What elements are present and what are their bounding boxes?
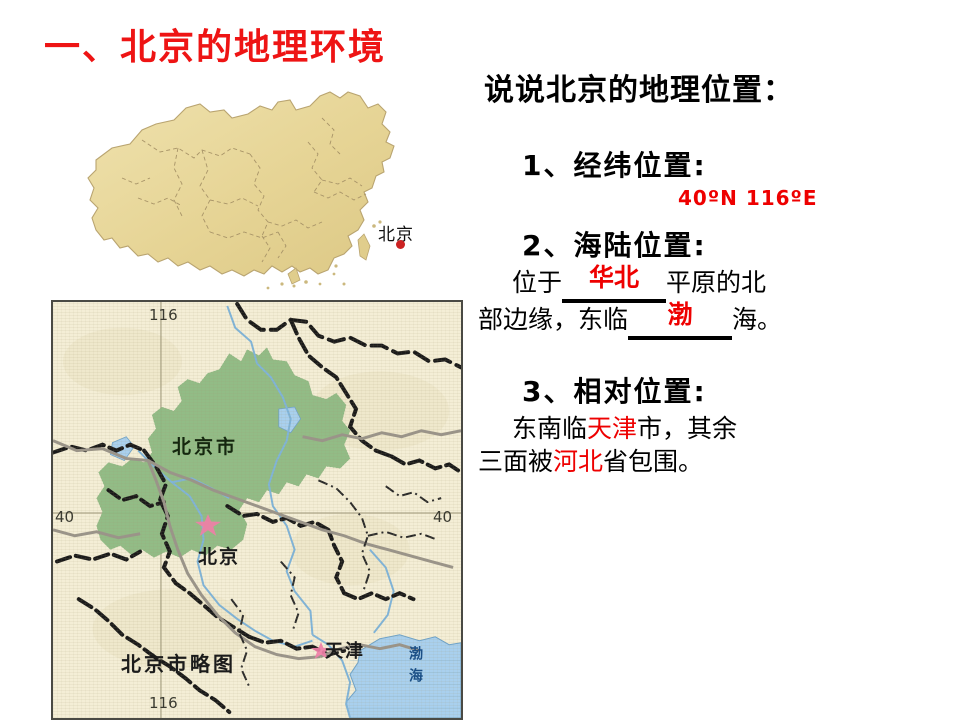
item-3-body-line-1: 东南临天津市，其余 [478,412,956,445]
item-3-line1-a: 东南临 [512,414,587,443]
item-2-body-line-1: 位于华北平原的北 [478,266,956,303]
item-3-line1-b: 市，其余 [637,414,737,443]
map-caption: 北京市略图 [121,648,236,677]
item-3-highlight-tianjin: 天津 [587,414,637,443]
item-2-text-before: 位于 [512,268,562,297]
item-2-body: 位于华北平原的北 部边缘，东临渤海。 [478,266,956,340]
map-longitude-label-bottom: 116 [149,694,178,712]
item-3-line2-a: 三面被 [478,447,553,476]
item-2-blank-2[interactable]: 渤 [628,303,732,340]
item-3-label: 3、相对位置: [522,370,956,410]
china-map-capital-marker [396,240,405,249]
item-2-blank-1-answer: 华北 [589,263,639,292]
beijing-region-map: 116 116 40 40 北京市 北京 天津 渤海 北京市略图 [51,300,463,720]
item-2-blank-2-answer: 渤 [668,300,693,329]
map-latitude-label-left: 40 [55,508,74,526]
item-3-body-line-2: 三面被河北省包围。 [478,445,956,478]
item-3-line2-b: 省包围。 [603,447,703,476]
slide-canvas: 一、北京的地理环境 [0,0,960,720]
item-2-line2-tail: 海。 [732,305,782,334]
item-1-label: 1、经纬位置: [522,144,956,184]
china-map-svg [82,88,482,300]
map-label-bohai-sea: 渤海 [405,646,425,690]
beijing-region-map-svg [53,302,461,718]
map-longitude-label-top: 116 [149,306,178,324]
map-label-beijing-municipality: 北京市 [172,432,238,459]
question-heading: 说说北京的地理位置： [484,72,956,110]
item-2-blank-1[interactable]: 华北 [562,266,666,303]
map-label-tianjin: 天津 [325,637,365,663]
item-2-body-line-2: 部边缘，东临渤海。 [478,303,956,340]
item-3-body: 东南临天津市，其余 三面被河北省包围。 [478,412,956,478]
item-3-highlight-hebei: 河北 [553,447,603,476]
map-latitude-label-right: 40 [433,508,452,526]
item-2-line1-tail: 平原的北 [666,268,766,297]
item-2-label: 2、海陆位置: [522,224,956,264]
right-text-panel: 说说北京的地理位置： 1、经纬位置: 40ºN 116ºE 2、海陆位置: 位于… [478,72,956,478]
item-2-line2-head: 部边缘，东临 [478,305,628,334]
china-overview-map: 北京 [82,88,482,300]
page-title: 一、北京的地理环境 [44,26,464,69]
map-label-beijing-city: 北京 [198,542,240,569]
item-1-coordinates: 40ºN 116ºE [678,186,956,210]
